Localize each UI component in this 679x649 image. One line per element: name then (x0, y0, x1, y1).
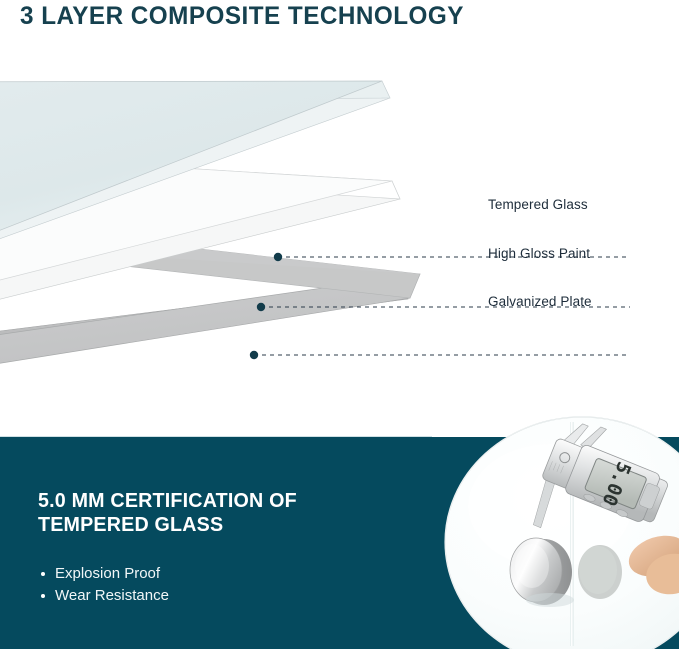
bullet-dot-icon (41, 594, 45, 598)
panel-heading-line-1: 5.0 MM CERTIFICATION OF (38, 489, 297, 513)
panel-heading: 5.0 MM CERTIFICATION OF TEMPERED GLASS (38, 489, 297, 537)
bullet-dot-icon (41, 572, 45, 576)
list-item: Wear Resistance (40, 585, 169, 607)
list-item: Explosion Proof (40, 563, 169, 585)
product-infographic: 3 LAYER COMPOSITE TECHNOLOGY (0, 0, 679, 649)
callout-leader-galvanized-plate (250, 351, 630, 359)
callout-label-tempered-glass: Tempered Glass (488, 197, 588, 212)
panel-heading-line-2: TEMPERED GLASS (38, 513, 297, 537)
list-item-label: Explosion Proof (55, 565, 160, 582)
list-item-label: Wear Resistance (55, 587, 169, 604)
feature-bullet-list: Explosion Proof Wear Resistance (40, 563, 169, 607)
callout-label-galvanized-plate: Galvanized Plate (488, 294, 592, 309)
caliper-measuring-glass-photo: 5.00 (432, 414, 679, 649)
page-title: 3 LAYER COMPOSITE TECHNOLOGY (20, 2, 464, 31)
layer-diagram (0, 46, 679, 437)
callout-label-high-gloss-paint: High Gloss Paint (488, 246, 590, 261)
knob-reflection (578, 545, 622, 599)
